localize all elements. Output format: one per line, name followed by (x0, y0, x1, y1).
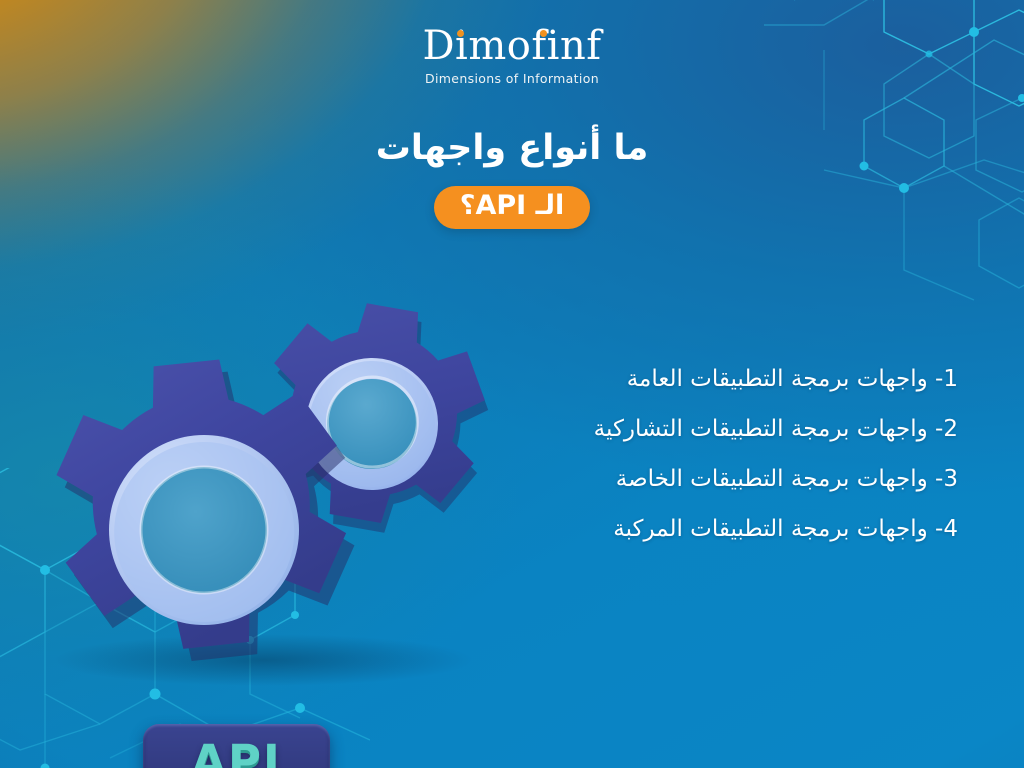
list-item: 2- واجهات برمجة التطبيقات التشاركية (488, 418, 958, 441)
api-chip-label: API (191, 735, 282, 768)
api-types-list: 1- واجهات برمجة التطبيقات العامة 2- واجه… (488, 368, 958, 541)
list-item: 1- واجهات برمجة التطبيقات العامة (488, 368, 958, 391)
list-item: 4- واجهات برمجة التطبيقات المركبة (488, 518, 958, 541)
gear-ground-shadow (54, 634, 474, 686)
page-title: ما أنواع واجهات (0, 128, 1024, 168)
slide-canvas: Dimofinf Dimensions of Information ما أن… (0, 0, 1024, 768)
gears-illustration: API (14, 272, 514, 692)
gear-pair-icon (14, 272, 514, 692)
list-item: 3- واجهات برمجة التطبيقات الخاصة (488, 468, 958, 491)
title-badge-row: الـ API؟ (0, 186, 1024, 229)
api-title-badge: الـ API؟ (434, 186, 590, 229)
api-chip-badge: API (143, 724, 330, 768)
